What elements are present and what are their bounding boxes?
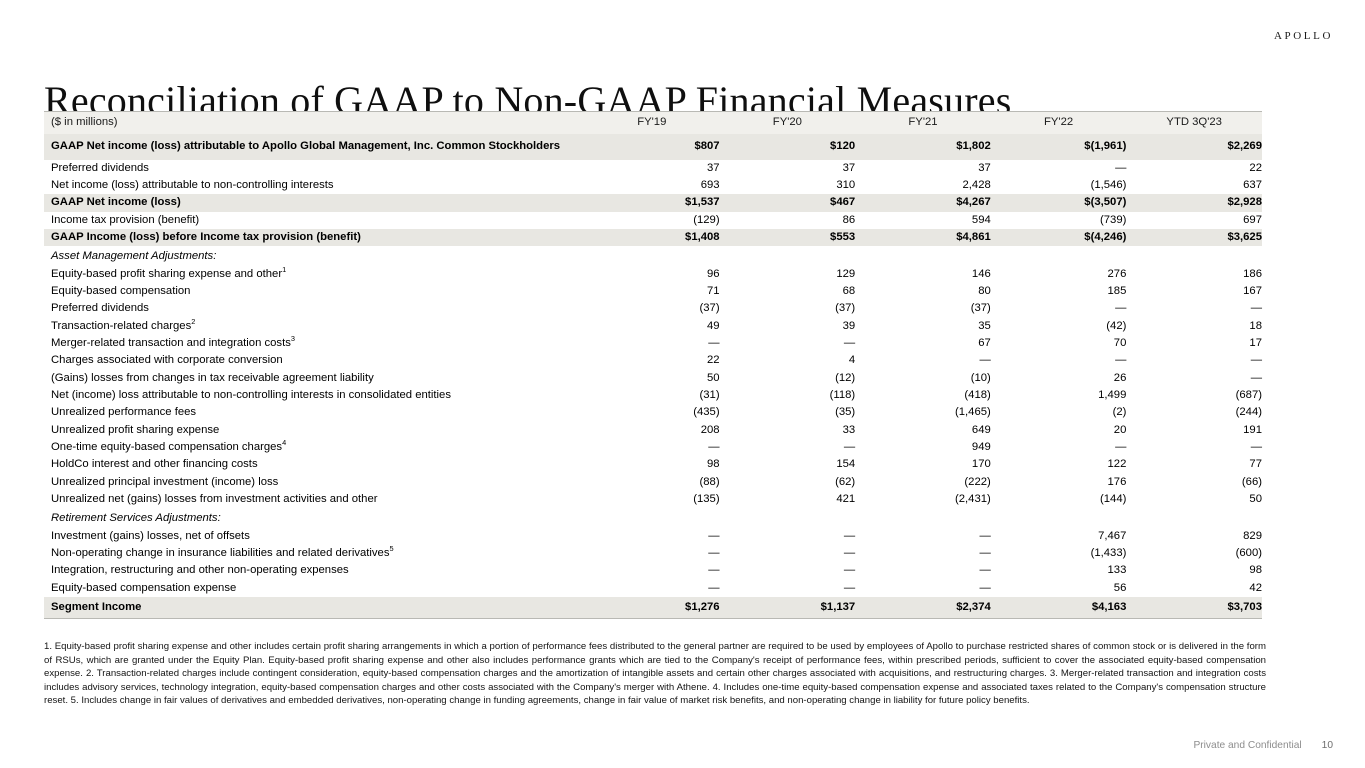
- row-value: [1126, 246, 1262, 265]
- table-row: Merger-related transaction and integrati…: [44, 335, 1262, 352]
- row-value: $3,625: [1126, 229, 1262, 246]
- row-label: Charges associated with corporate conver…: [44, 352, 584, 369]
- row-value: (244): [1126, 404, 1262, 421]
- row-value: [1126, 508, 1262, 527]
- column-header-period: FY'22: [991, 112, 1127, 135]
- table-row: Charges associated with corporate conver…: [44, 352, 1262, 369]
- row-label: HoldCo interest and other financing cost…: [44, 456, 584, 473]
- row-label: One-time equity-based compensation charg…: [44, 439, 584, 456]
- row-value: —: [855, 562, 991, 579]
- row-value: (1,433): [991, 545, 1127, 562]
- row-value: 176: [991, 474, 1127, 491]
- row-label: Net income (loss) attributable to non-co…: [44, 177, 584, 194]
- row-label: GAAP Net income (loss) attributable to A…: [44, 134, 584, 159]
- row-value: 949: [855, 439, 991, 456]
- row-value: $4,861: [855, 229, 991, 246]
- row-value: (88): [584, 474, 720, 491]
- column-header-period: FY'19: [584, 112, 720, 135]
- row-value: (37): [720, 300, 856, 317]
- table-row: Net (income) loss attributable to non-co…: [44, 387, 1262, 404]
- row-value: (118): [720, 387, 856, 404]
- table-row: GAAP Net income (loss) attributable to A…: [44, 134, 1262, 159]
- table-row: Equity-based compensation716880185167: [44, 283, 1262, 300]
- row-value: [720, 508, 856, 527]
- row-value: (1,546): [991, 177, 1127, 194]
- row-value: —: [584, 562, 720, 579]
- row-label: (Gains) losses from changes in tax recei…: [44, 370, 584, 387]
- row-value: 68: [720, 283, 856, 300]
- row-value: $807: [584, 134, 720, 159]
- row-value: 276: [991, 266, 1127, 283]
- row-value: (1,465): [855, 404, 991, 421]
- row-value: $1,802: [855, 134, 991, 159]
- row-value: —: [720, 439, 856, 456]
- page-number: 10: [1322, 740, 1333, 751]
- row-value: $1,137: [720, 597, 856, 619]
- row-value: [720, 246, 856, 265]
- row-value: —: [584, 439, 720, 456]
- row-label: Unrealized net (gains) losses from inves…: [44, 491, 584, 508]
- row-label: GAAP Income (loss) before Income tax pro…: [44, 229, 584, 246]
- table-row: Unrealized profit sharing expense2083364…: [44, 422, 1262, 439]
- row-label: Segment Income: [44, 597, 584, 619]
- row-value: —: [720, 562, 856, 579]
- row-value: 42: [1126, 580, 1262, 597]
- row-value: 96: [584, 266, 720, 283]
- row-value: (62): [720, 474, 856, 491]
- row-value: (31): [584, 387, 720, 404]
- row-value: 56: [991, 580, 1127, 597]
- table-row: Preferred dividends(37)(37)(37)——: [44, 300, 1262, 317]
- table-row: Non-operating change in insurance liabil…: [44, 545, 1262, 562]
- row-value: $467: [720, 194, 856, 211]
- row-value: 39: [720, 318, 856, 335]
- column-header-period: FY'21: [855, 112, 991, 135]
- row-value: 170: [855, 456, 991, 473]
- row-value: (37): [855, 300, 991, 317]
- row-label: Integration, restructuring and other non…: [44, 562, 584, 579]
- row-value: 167: [1126, 283, 1262, 300]
- row-value: 693: [584, 177, 720, 194]
- table-row: Unrealized performance fees(435)(35)(1,4…: [44, 404, 1262, 421]
- row-value: —: [855, 545, 991, 562]
- row-value: (739): [991, 212, 1127, 229]
- row-value: —: [720, 528, 856, 545]
- row-value: 146: [855, 266, 991, 283]
- table-row: Equity-based profit sharing expense and …: [44, 266, 1262, 283]
- row-value: $2,928: [1126, 194, 1262, 211]
- row-value: 421: [720, 491, 856, 508]
- row-value: —: [720, 335, 856, 352]
- row-value: 1,499: [991, 387, 1127, 404]
- row-label: Unrealized profit sharing expense: [44, 422, 584, 439]
- row-value: 49: [584, 318, 720, 335]
- row-value: (129): [584, 212, 720, 229]
- table-row: Income tax provision (benefit)(129)86594…: [44, 212, 1262, 229]
- row-value: —: [991, 439, 1127, 456]
- table-row: Unrealized principal investment (income)…: [44, 474, 1262, 491]
- row-value: 18: [1126, 318, 1262, 335]
- table-row: GAAP Income (loss) before Income tax pro…: [44, 229, 1262, 246]
- footnote-marker: 2: [191, 317, 195, 326]
- row-value: $553: [720, 229, 856, 246]
- row-label: Income tax provision (benefit): [44, 212, 584, 229]
- row-value: (144): [991, 491, 1127, 508]
- table-row: Segment Income$1,276$1,137$2,374$4,163$3…: [44, 597, 1262, 619]
- row-value: $1,276: [584, 597, 720, 619]
- row-label: Non-operating change in insurance liabil…: [44, 545, 584, 562]
- row-value: —: [855, 580, 991, 597]
- row-label: Preferred dividends: [44, 300, 584, 317]
- row-value: —: [1126, 300, 1262, 317]
- row-value: 77: [1126, 456, 1262, 473]
- row-value: 185: [991, 283, 1127, 300]
- footnote-marker: 1: [282, 265, 286, 274]
- row-value: 67: [855, 335, 991, 352]
- row-value: —: [991, 352, 1127, 369]
- row-value: [584, 508, 720, 527]
- row-value: —: [1126, 370, 1262, 387]
- row-label: Unrealized performance fees: [44, 404, 584, 421]
- footnote-marker: 3: [291, 334, 295, 343]
- row-value: $(3,507): [991, 194, 1127, 211]
- row-value: (42): [991, 318, 1127, 335]
- row-value: 33: [720, 422, 856, 439]
- table-row: Retirement Services Adjustments:: [44, 508, 1262, 527]
- row-value: 637: [1126, 177, 1262, 194]
- row-value: —: [855, 352, 991, 369]
- row-value: 20: [991, 422, 1127, 439]
- footnotes: 1. Equity-based profit sharing expense a…: [44, 640, 1266, 708]
- row-value: 37: [720, 160, 856, 177]
- row-value: [991, 246, 1127, 265]
- row-value: $120: [720, 134, 856, 159]
- row-label: Retirement Services Adjustments:: [44, 508, 584, 527]
- table-row: Net income (loss) attributable to non-co…: [44, 177, 1262, 194]
- table-row: (Gains) losses from changes in tax recei…: [44, 370, 1262, 387]
- row-value: —: [1126, 352, 1262, 369]
- reconciliation-table-container: ($ in millions)FY'19FY'20FY'21FY'22YTD 3…: [44, 111, 1262, 619]
- row-label: Equity-based compensation: [44, 283, 584, 300]
- row-value: 17: [1126, 335, 1262, 352]
- row-value: (35): [720, 404, 856, 421]
- row-value: 122: [991, 456, 1127, 473]
- row-value: —: [720, 545, 856, 562]
- row-value: —: [584, 545, 720, 562]
- row-label: Asset Management Adjustments:: [44, 246, 584, 265]
- table-row: Investment (gains) losses, net of offset…: [44, 528, 1262, 545]
- row-value: 829: [1126, 528, 1262, 545]
- row-value: $3,703: [1126, 597, 1262, 619]
- confidentiality-label: Private and Confidential: [1193, 740, 1301, 751]
- row-label: Equity-based compensation expense: [44, 580, 584, 597]
- row-value: 191: [1126, 422, 1262, 439]
- row-value: 37: [855, 160, 991, 177]
- row-value: —: [855, 528, 991, 545]
- table-row: Preferred dividends373737—22: [44, 160, 1262, 177]
- row-value: —: [991, 160, 1127, 177]
- row-label: Investment (gains) losses, net of offset…: [44, 528, 584, 545]
- row-value: (135): [584, 491, 720, 508]
- row-value: —: [991, 300, 1127, 317]
- row-label: Unrealized principal investment (income)…: [44, 474, 584, 491]
- row-value: 129: [720, 266, 856, 283]
- row-value: (418): [855, 387, 991, 404]
- row-value: (37): [584, 300, 720, 317]
- row-value: $2,374: [855, 597, 991, 619]
- row-value: 133: [991, 562, 1127, 579]
- row-value: (12): [720, 370, 856, 387]
- footnote-marker: 4: [282, 438, 286, 447]
- row-value: [855, 246, 991, 265]
- row-value: 310: [720, 177, 856, 194]
- row-value: (600): [1126, 545, 1262, 562]
- row-value: (2): [991, 404, 1127, 421]
- slide-footer: Private and Confidential 10: [1193, 740, 1333, 751]
- row-label: GAAP Net income (loss): [44, 194, 584, 211]
- row-value: 70: [991, 335, 1127, 352]
- row-value: 154: [720, 456, 856, 473]
- row-value: $(4,246): [991, 229, 1127, 246]
- table-row: HoldCo interest and other financing cost…: [44, 456, 1262, 473]
- row-value: $4,163: [991, 597, 1127, 619]
- row-value: 22: [584, 352, 720, 369]
- row-label: Equity-based profit sharing expense and …: [44, 266, 584, 283]
- row-value: 98: [584, 456, 720, 473]
- row-label: Merger-related transaction and integrati…: [44, 335, 584, 352]
- row-value: [855, 508, 991, 527]
- column-header-period: FY'20: [720, 112, 856, 135]
- row-value: (10): [855, 370, 991, 387]
- row-value: $4,267: [855, 194, 991, 211]
- row-value: 71: [584, 283, 720, 300]
- row-value: 80: [855, 283, 991, 300]
- table-row: Asset Management Adjustments:: [44, 246, 1262, 265]
- row-value: 35: [855, 318, 991, 335]
- row-value: [991, 508, 1127, 527]
- row-value: 186: [1126, 266, 1262, 283]
- row-value: —: [1126, 439, 1262, 456]
- row-value: $2,269: [1126, 134, 1262, 159]
- table-row: Unrealized net (gains) losses from inves…: [44, 491, 1262, 508]
- row-label: Net (income) loss attributable to non-co…: [44, 387, 584, 404]
- row-value: 697: [1126, 212, 1262, 229]
- row-value: (435): [584, 404, 720, 421]
- reconciliation-table: ($ in millions)FY'19FY'20FY'21FY'22YTD 3…: [44, 111, 1262, 619]
- row-value: (2,431): [855, 491, 991, 508]
- table-row: Transaction-related charges2493935(42)18: [44, 318, 1262, 335]
- row-label: Transaction-related charges2: [44, 318, 584, 335]
- row-value: $1,537: [584, 194, 720, 211]
- table-row: One-time equity-based compensation charg…: [44, 439, 1262, 456]
- table-row: GAAP Net income (loss)$1,537$467$4,267$(…: [44, 194, 1262, 211]
- row-value: 649: [855, 422, 991, 439]
- row-value: 4: [720, 352, 856, 369]
- row-value: 50: [1126, 491, 1262, 508]
- apollo-logo: APOLLO: [1274, 30, 1333, 42]
- row-value: (687): [1126, 387, 1262, 404]
- row-value: 50: [584, 370, 720, 387]
- column-header-units: ($ in millions): [44, 112, 584, 135]
- table-row: Equity-based compensation expense———5642: [44, 580, 1262, 597]
- table-header-row: ($ in millions)FY'19FY'20FY'21FY'22YTD 3…: [44, 112, 1262, 135]
- row-value: —: [584, 335, 720, 352]
- row-value: —: [720, 580, 856, 597]
- row-value: (66): [1126, 474, 1262, 491]
- row-value: 37: [584, 160, 720, 177]
- row-value: 594: [855, 212, 991, 229]
- row-value: [584, 246, 720, 265]
- row-value: $1,408: [584, 229, 720, 246]
- table-row: Integration, restructuring and other non…: [44, 562, 1262, 579]
- column-header-period: YTD 3Q'23: [1126, 112, 1262, 135]
- row-value: —: [584, 528, 720, 545]
- row-value: 208: [584, 422, 720, 439]
- row-value: 98: [1126, 562, 1262, 579]
- row-value: 26: [991, 370, 1127, 387]
- row-value: $(1,961): [991, 134, 1127, 159]
- row-value: 7,467: [991, 528, 1127, 545]
- row-value: 2,428: [855, 177, 991, 194]
- footnote-marker: 5: [389, 544, 393, 553]
- row-label: Preferred dividends: [44, 160, 584, 177]
- row-value: 86: [720, 212, 856, 229]
- row-value: 22: [1126, 160, 1262, 177]
- row-value: —: [584, 580, 720, 597]
- row-value: (222): [855, 474, 991, 491]
